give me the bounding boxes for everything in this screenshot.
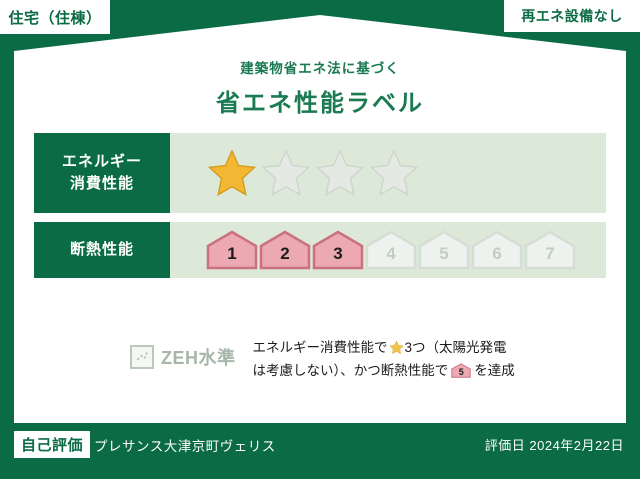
- housing-type-tag: 住宅（住棟）: [0, 0, 110, 34]
- renewable-energy-tag: 再エネ設備なし: [504, 0, 640, 32]
- insulation-level-badge: 4: [365, 230, 417, 270]
- insulation-level-badge: 3: [312, 230, 364, 270]
- rating-rows: エネルギー 消費性能 断熱性能 1234567: [34, 133, 606, 278]
- energy-consumption-row-body: [170, 133, 606, 213]
- star-icon-filled: [206, 148, 258, 198]
- energy-consumption-label-line2: 消費性能: [70, 173, 134, 195]
- energy-performance-label: 住宅（住棟） 再エネ設備なし 建築物省エネ法に基づく 省エネ性能ラベル エネルギ…: [0, 0, 640, 479]
- insulation-level-badge: 7: [524, 230, 576, 270]
- star-icon-empty: [368, 148, 420, 198]
- dotted-checkbox-icon: [130, 345, 154, 369]
- inline-insulation-badge-value: 5: [451, 363, 471, 378]
- insulation-level-badge: 2: [259, 230, 311, 270]
- energy-consumption-row-label: エネルギー 消費性能: [34, 133, 170, 213]
- zeh-indicator: ZEH水準: [130, 336, 236, 370]
- star-rating: [206, 148, 420, 198]
- insulation-level-badge: 6: [471, 230, 523, 270]
- insulation-level-badges: 1234567: [206, 230, 576, 270]
- star-icon: [389, 340, 404, 355]
- insulation-row-label: 断熱性能: [34, 222, 170, 278]
- achievement-line2-suffix: を達成: [474, 359, 515, 382]
- achievement-note: ZEH水準 エネルギー消費性能で 3つ（太陽光発電 は考慮しない）、かつ断熱性能…: [130, 336, 515, 382]
- insulation-level-badge: 5: [418, 230, 470, 270]
- label-footer: 自己評価 プレサンス大津京町ヴェリス 評価日 2024年2月22日: [0, 423, 640, 479]
- achievement-line1-suffix: 3つ（太陽光発電: [405, 336, 507, 359]
- self-evaluation-badge: 自己評価: [14, 431, 90, 458]
- footer-left: 自己評価 プレサンス大津京町ヴェリス: [14, 431, 276, 458]
- title-main: 省エネ性能ラベル: [0, 83, 640, 118]
- title-subtitle: 建築物省エネ法に基づく: [0, 57, 640, 77]
- label-title: 建築物省エネ法に基づく 省エネ性能ラベル: [0, 57, 640, 118]
- insulation-label-line1: 断熱性能: [70, 239, 134, 261]
- insulation-row: 断熱性能 1234567: [34, 222, 606, 278]
- evaluation-date: 評価日 2024年2月22日: [485, 435, 624, 454]
- achievement-description-line1: エネルギー消費性能で 3つ（太陽光発電: [253, 336, 515, 359]
- insulation-level-badge: 1: [206, 230, 258, 270]
- achievement-line2-prefix: は考慮しない）、かつ断熱性能で: [253, 359, 449, 382]
- energy-consumption-row: エネルギー 消費性能: [34, 133, 606, 213]
- achievement-description-line2: は考慮しない）、かつ断熱性能で 5 を達成: [253, 359, 515, 382]
- energy-consumption-label-line1: エネルギー: [62, 151, 142, 173]
- star-icon-empty: [260, 148, 312, 198]
- achievement-description: エネルギー消費性能で 3つ（太陽光発電 は考慮しない）、かつ断熱性能で 5 を達…: [253, 336, 515, 382]
- inline-insulation-badge: 5: [451, 363, 471, 378]
- renewable-energy-tag-label: 再エネ設備なし: [521, 6, 623, 26]
- achievement-line1-prefix: エネルギー消費性能で: [253, 336, 388, 359]
- zeh-label: ZEH水準: [161, 344, 236, 370]
- star-icon-empty: [314, 148, 366, 198]
- building-name: プレサンス大津京町ヴェリス: [94, 435, 276, 455]
- housing-type-tag-label: 住宅（住棟）: [8, 7, 101, 28]
- insulation-row-body: 1234567: [170, 222, 606, 278]
